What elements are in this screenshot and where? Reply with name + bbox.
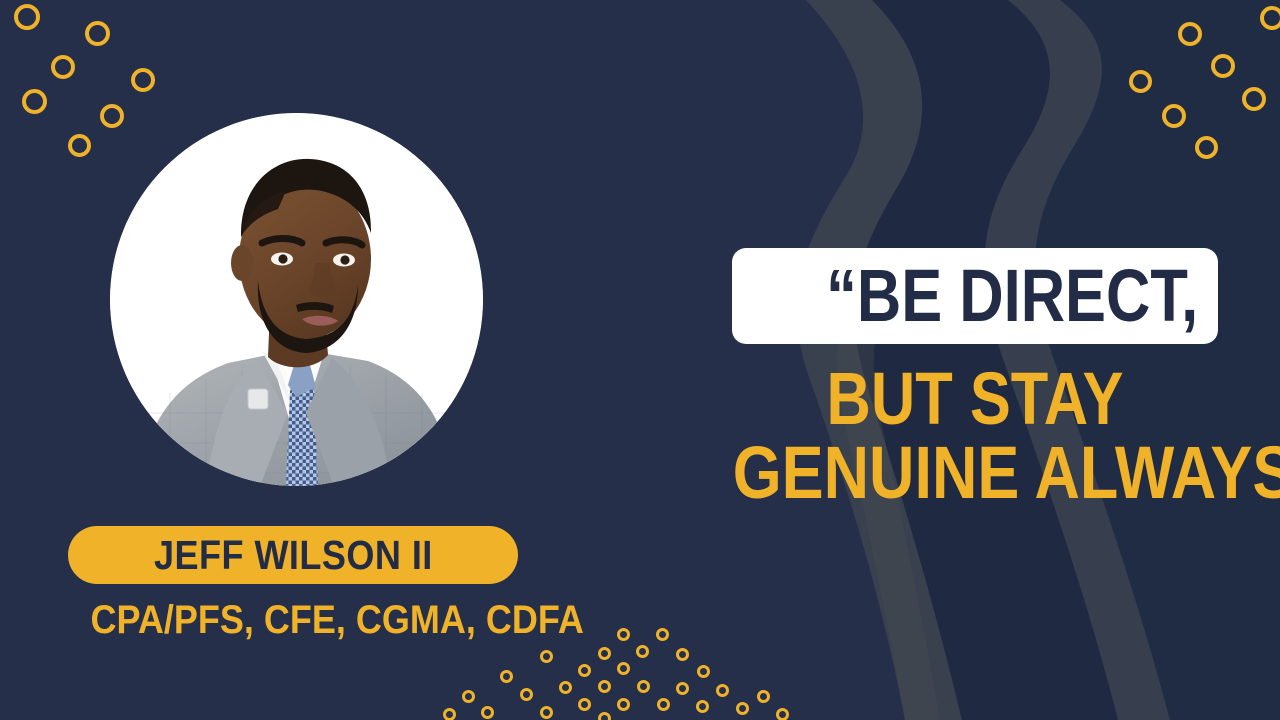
ring-decor-icon xyxy=(520,688,533,701)
ring-decor-icon xyxy=(757,690,770,703)
ring-decor-icon xyxy=(656,628,669,641)
quote-line-3-text: GENUINE ALWAYS” xyxy=(733,436,1218,510)
speaker-name-badge: JEFF WILSON II xyxy=(68,526,518,584)
ring-decor-icon xyxy=(617,628,630,641)
speaker-credentials-text: CPA/PFS, CFE, CGMA, CDFA xyxy=(91,600,496,640)
quote-line-2-text: BUT STAY xyxy=(738,362,1211,436)
ring-decor-icon xyxy=(540,706,553,719)
ring-decor-icon xyxy=(676,682,689,695)
ring-decor-icon xyxy=(617,698,630,711)
ring-decor-icon xyxy=(100,104,124,128)
ring-decor-icon xyxy=(598,647,611,660)
ring-decor-icon xyxy=(131,68,155,92)
ring-decor-icon xyxy=(1178,22,1202,46)
ring-decor-icon xyxy=(462,690,475,703)
ring-decor-icon xyxy=(443,708,456,720)
ring-decor-icon xyxy=(540,650,553,663)
ring-decor-icon xyxy=(696,700,709,713)
ring-decor-icon xyxy=(1242,87,1266,111)
ring-decor-icon xyxy=(716,684,729,697)
avatar-icon xyxy=(110,113,483,486)
ring-decor-icon xyxy=(776,708,789,720)
speaker-name-text: JEFF WILSON II xyxy=(154,535,433,576)
ring-decor-icon xyxy=(68,134,91,157)
ring-decor-icon xyxy=(637,680,650,693)
ring-decor-icon xyxy=(598,712,611,720)
quote-line-1-text: “BE DIRECT, xyxy=(826,259,1198,333)
quote-line-1-panel: “BE DIRECT, xyxy=(732,248,1218,344)
ring-decor-icon xyxy=(697,665,710,678)
ring-decor-icon xyxy=(1129,70,1152,93)
ring-decor-icon xyxy=(559,681,572,694)
ring-decor-icon xyxy=(51,55,75,79)
ring-decor-icon xyxy=(598,680,611,693)
ring-decor-icon xyxy=(85,21,110,46)
ring-decor-icon xyxy=(1162,104,1186,128)
avatar xyxy=(110,113,483,486)
ring-decor-icon xyxy=(657,698,670,711)
ring-decor-icon xyxy=(1195,136,1218,159)
ring-decor-icon xyxy=(617,662,630,675)
quote-card: “BE DIRECT, BUT STAY GENUINE ALWAYS” JEF… xyxy=(0,0,1280,720)
ring-decor-icon xyxy=(22,89,47,114)
ring-decor-icon xyxy=(578,664,591,677)
ring-decor-icon xyxy=(1260,6,1280,30)
ring-decor-icon xyxy=(500,670,513,683)
ring-decor-icon xyxy=(736,702,749,715)
ring-decor-icon xyxy=(481,706,494,719)
ring-decor-icon xyxy=(1211,54,1235,78)
ring-decor-icon xyxy=(636,645,649,658)
ring-decor-icon xyxy=(676,648,689,661)
ring-decor-icon xyxy=(14,4,40,30)
ring-decor-icon xyxy=(578,698,591,711)
